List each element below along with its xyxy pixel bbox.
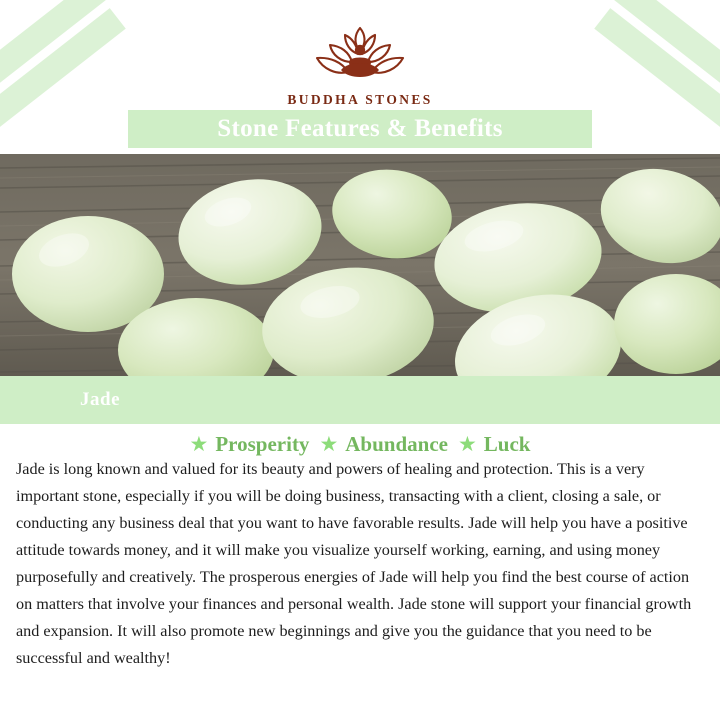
stone-name-bar: Jade [0, 376, 720, 424]
keyword-label: Prosperity [215, 432, 309, 457]
star-icon: ★ [319, 434, 338, 455]
page-title: Stone Features & Benefits [217, 115, 502, 143]
lotus-meditation-icon [285, 18, 435, 90]
keyword-item: ★ Luck [458, 432, 531, 457]
infographic-page: BUDDHA STONES Stone Features & Benefits [0, 0, 720, 720]
brand-logo: BUDDHA STONES [0, 18, 720, 108]
title-banner: Stone Features & Benefits [128, 110, 592, 148]
stone-photo [0, 154, 720, 376]
keyword-item: ★ Abundance [319, 432, 448, 457]
brand-name: BUDDHA STONES [0, 92, 720, 108]
jade-stones-illustration [0, 154, 720, 376]
keyword-list: ★ Prosperity ★ Abundance ★ Luck [0, 432, 720, 457]
keyword-item: ★ Prosperity [190, 432, 310, 457]
keyword-label: Abundance [345, 432, 448, 457]
keyword-label: Luck [484, 432, 531, 457]
star-icon: ★ [458, 434, 477, 455]
description-paragraph: Jade is long known and valued for its be… [16, 456, 708, 672]
stone-name: Jade [80, 389, 120, 411]
star-icon: ★ [190, 434, 209, 455]
